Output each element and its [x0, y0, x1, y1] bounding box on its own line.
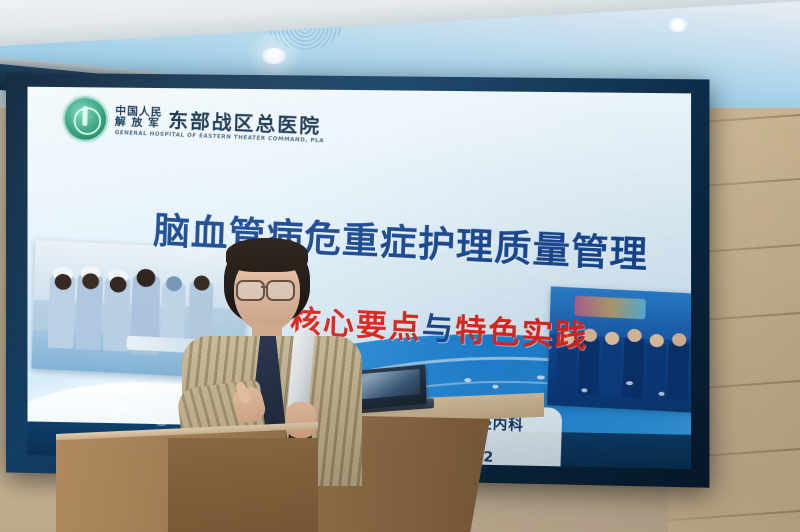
subtitle-part-2: 与 [421, 311, 455, 349]
hospital-logo-header: 中国人民解 放 军 东部战区总医院 GENERAL HOSPITAL OF EA… [64, 97, 325, 149]
presenter-fringe [226, 238, 308, 272]
glasses-bridge [261, 286, 266, 288]
logo-hospital-name: 东部战区总医院 [168, 110, 321, 136]
subtitle-part-3: 特色实践 [454, 312, 588, 355]
ceiling-downlight [668, 18, 688, 32]
lectern-front-panel [168, 438, 318, 532]
screenshot-root: 中国人民解 放 军 东部战区总医院 GENERAL HOSPITAL OF EA… [0, 0, 800, 532]
presenter-mic-hand [286, 402, 316, 438]
glasses-right-lens [266, 280, 295, 301]
logo-cn-small-text: 中国人民解 放 军 [115, 105, 163, 130]
glasses-left-lens [236, 280, 265, 301]
hospital-emblem-icon [64, 97, 106, 140]
